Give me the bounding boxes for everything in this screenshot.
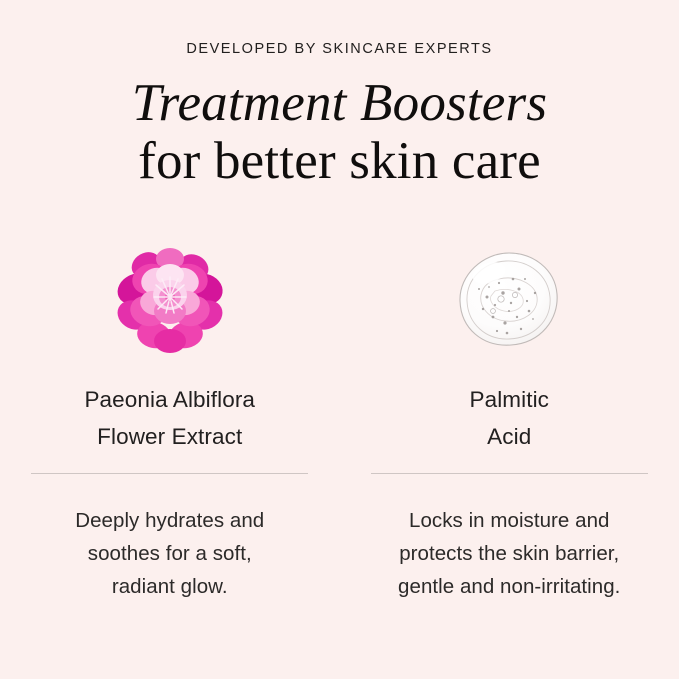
gel-droplet-icon — [449, 245, 569, 355]
description-line-2: protects the skin barrier, — [364, 537, 654, 570]
page-title: Treatment Boosters for better skin care — [0, 74, 679, 190]
description-line-3: gentle and non-irritating. — [364, 570, 654, 603]
ingredient-name-line-1: Palmitic — [469, 387, 549, 412]
ingredient-description: Deeply hydrates and soothes for a soft, … — [25, 504, 315, 603]
ingredient-name: Palmitic Acid — [469, 381, 549, 455]
infographic-page: DEVELOPED BY SKINCARE EXPERTS Treatment … — [0, 0, 679, 679]
description-line-1: Deeply hydrates and — [25, 504, 315, 537]
description-line-2: soothes for a soft, — [25, 537, 315, 570]
description-line-1: Locks in moisture and — [364, 504, 654, 537]
divider — [371, 473, 648, 474]
ingredient-name-line-1: Paeonia Albiflora — [84, 387, 255, 412]
ingredient-name-line-2: Flower Extract — [97, 424, 242, 449]
description-line-3: radiant glow. — [25, 570, 315, 603]
page-title-line-2: for better skin care — [0, 132, 679, 190]
eyebrow-text: DEVELOPED BY SKINCARE EXPERTS — [0, 41, 679, 57]
ingredient-name: Paeonia Albiflora Flower Extract — [84, 381, 255, 455]
ingredient-name-line-2: Acid — [487, 424, 531, 449]
page-title-line-1: Treatment Boosters — [0, 74, 679, 132]
ingredient-card-palmitic-acid: Palmitic Acid Locks in moisture and prot… — [340, 245, 679, 603]
peony-flower-icon — [110, 245, 230, 355]
ingredient-columns: Paeonia Albiflora Flower Extract Deeply … — [0, 245, 679, 603]
ingredient-card-peony: Paeonia Albiflora Flower Extract Deeply … — [0, 245, 340, 603]
divider — [31, 473, 308, 474]
ingredient-description: Locks in moisture and protects the skin … — [364, 504, 654, 603]
